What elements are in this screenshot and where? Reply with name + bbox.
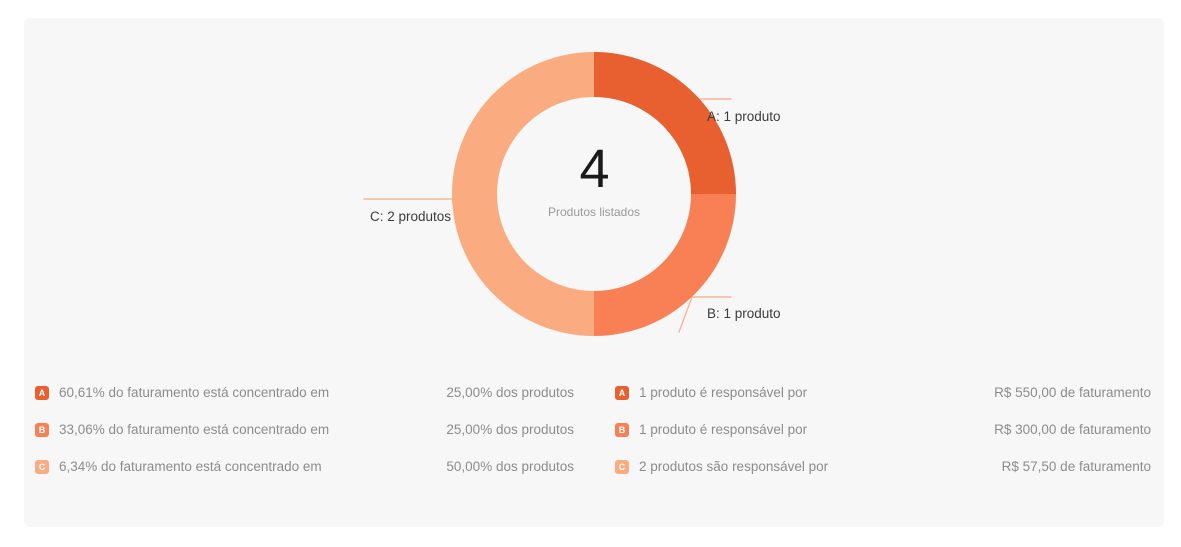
legend-badge-group: B 33,06% do faturamento está concentrado…	[24, 422, 324, 437]
donut-center-value: 4	[450, 142, 738, 196]
legend: A 60,61% do faturamento está concentrado…	[24, 374, 1164, 485]
legend-text: 1 produto é responsável por	[639, 385, 807, 400]
legend-text: 2 produtos são responsável por	[639, 459, 828, 474]
legend-value: 25,00% dos produtos	[324, 422, 602, 437]
legend-row: C 6,34% do faturamento está concentrado …	[24, 448, 1164, 485]
legend-text: 60,61% do faturamento está concentrado e…	[59, 385, 329, 400]
legend-badge-group: A 1 produto é responsável por	[602, 385, 892, 400]
donut-chart-area: 4 Produtos listados A: 1 produto B: 1 pr…	[24, 18, 1164, 358]
legend-value: R$ 57,50 de faturamento	[892, 459, 1164, 474]
badge-b-icon: B	[615, 423, 629, 437]
legend-row: B 33,06% do faturamento está concentrado…	[24, 411, 1164, 448]
legend-value: 25,00% dos produtos	[324, 385, 602, 400]
badge-a-icon: A	[615, 386, 629, 400]
badge-a-icon: A	[35, 386, 49, 400]
legend-cell-right: B 1 produto é responsável por R$ 300,00 …	[602, 422, 1164, 437]
legend-row: A 60,61% do faturamento está concentrado…	[24, 374, 1164, 411]
donut: 4 Produtos listados	[450, 50, 738, 338]
donut-center-caption: Produtos listados	[450, 205, 738, 219]
legend-cell-left: A 60,61% do faturamento está concentrado…	[24, 385, 602, 400]
legend-text: 1 produto é responsável por	[639, 422, 807, 437]
badge-c-icon: C	[35, 460, 49, 474]
badge-b-icon: B	[35, 423, 49, 437]
legend-value: R$ 300,00 de faturamento	[892, 422, 1164, 437]
legend-text: 6,34% do faturamento está concentrado em	[59, 459, 322, 474]
abc-curve-card: 4 Produtos listados A: 1 produto B: 1 pr…	[24, 18, 1164, 527]
legend-badge-group: C 2 produtos são responsável por	[602, 459, 892, 474]
slice-label-b: B: 1 produto	[707, 306, 781, 321]
legend-value: 50,00% dos produtos	[324, 459, 602, 474]
legend-badge-group: B 1 produto é responsável por	[602, 422, 892, 437]
legend-badge-group: C 6,34% do faturamento está concentrado …	[24, 459, 324, 474]
legend-cell-right: A 1 produto é responsável por R$ 550,00 …	[602, 385, 1164, 400]
legend-badge-group: A 60,61% do faturamento está concentrado…	[24, 385, 324, 400]
slice-label-a: A: 1 produto	[707, 109, 781, 124]
legend-text: 33,06% do faturamento está concentrado e…	[59, 422, 329, 437]
legend-cell-left: C 6,34% do faturamento está concentrado …	[24, 459, 602, 474]
badge-c-icon: C	[615, 460, 629, 474]
legend-cell-left: B 33,06% do faturamento está concentrado…	[24, 422, 602, 437]
legend-value: R$ 550,00 de faturamento	[892, 385, 1164, 400]
legend-cell-right: C 2 produtos são responsável por R$ 57,5…	[602, 459, 1164, 474]
slice-label-c: C: 2 produtos	[336, 209, 451, 224]
